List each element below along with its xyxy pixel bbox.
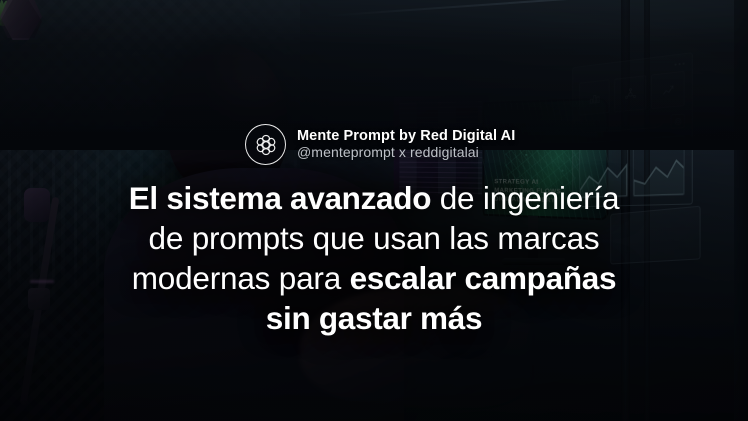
headline-rest-3: modernas para (132, 260, 350, 296)
headline-line-2: de prompts que usan las marcas (54, 218, 694, 258)
promo-graphic: STRATEGY AI MARKETING FLOWS DIGITAL MAST… (0, 0, 748, 421)
flower-atom-logo-icon (245, 124, 286, 165)
brand-text-block: Mente Prompt by Red Digital AI @mentepro… (297, 129, 515, 161)
headline-line-1: El sistema avanzado de ingeniería (54, 178, 694, 218)
brand-handle: @menteprompt x reddigitalai (297, 145, 515, 160)
brand-lockup: Mente Prompt by Red Digital AI @mentepro… (245, 124, 515, 165)
headline: El sistema avanzado de ingeniería de pro… (0, 178, 748, 338)
headline-bold-4: sin gastar más (266, 300, 482, 336)
headline-line-4: sin gastar más (54, 298, 694, 338)
headline-bold-3: escalar campañas (350, 260, 617, 296)
headline-rest-1: de ingeniería (431, 180, 619, 216)
headline-bold-1: El sistema avanzado (129, 180, 431, 216)
brand-name: Mente Prompt by Red Digital AI (297, 129, 515, 145)
flower-atom-glyph (253, 132, 279, 158)
headline-line-3: modernas para escalar campañas (54, 258, 694, 298)
